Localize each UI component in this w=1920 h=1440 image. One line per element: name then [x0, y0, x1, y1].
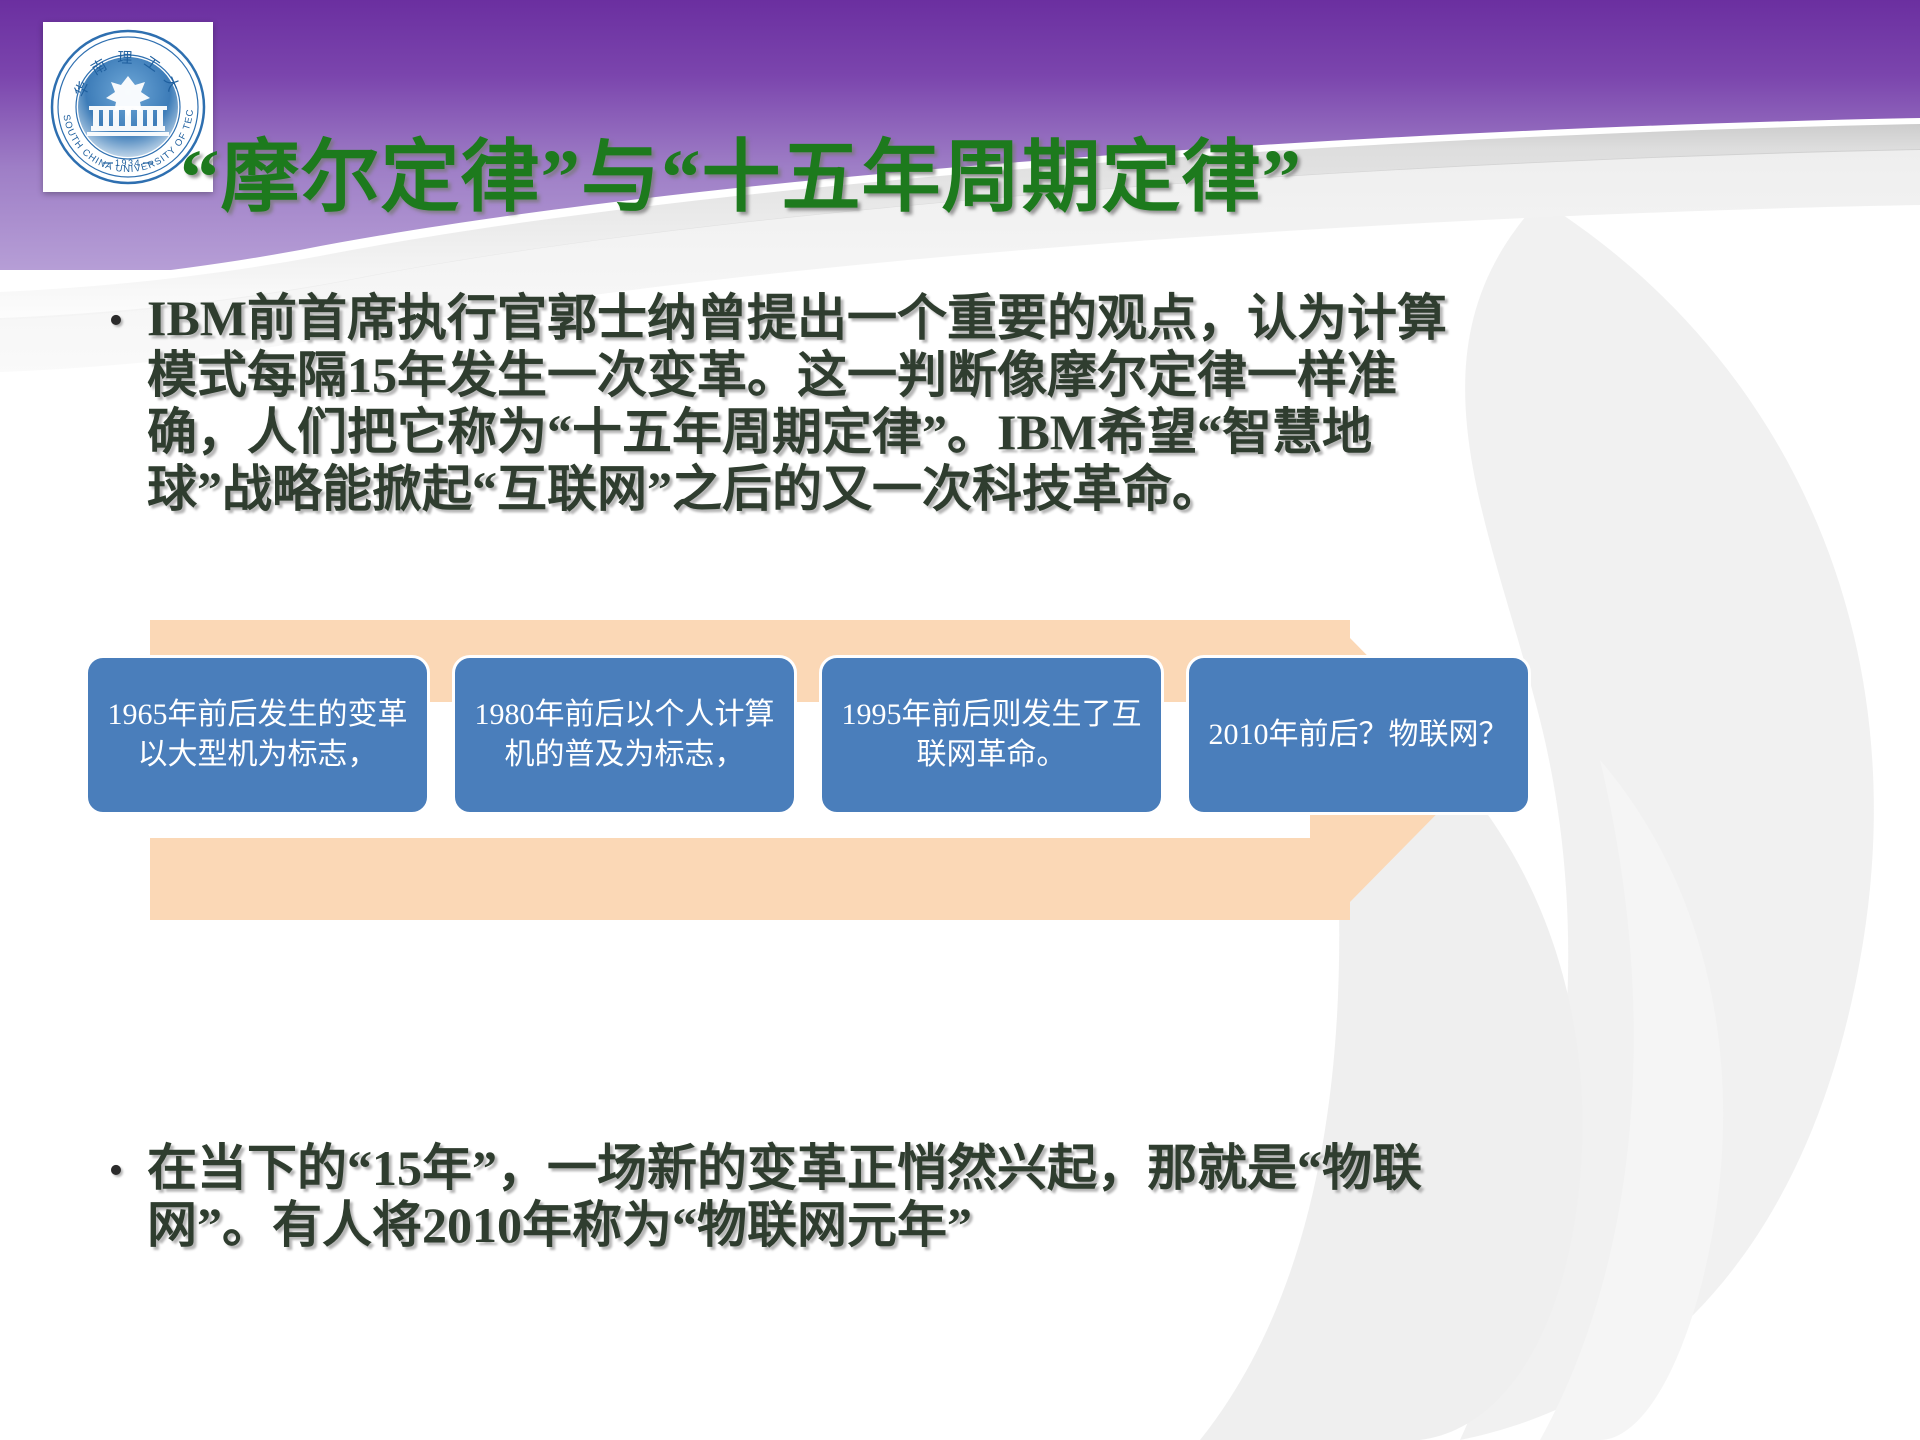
- process-step-2-label: 1980年前后以个人计算机的普及为标志，: [469, 695, 780, 775]
- process-step-1[interactable]: 1965年前后发生的变革以大型机为标志，: [85, 655, 430, 815]
- process-step-4-label: 2010年前后？物联网？: [1203, 715, 1514, 755]
- bullet-marker: •: [85, 1140, 147, 1192]
- svg-text:1934: 1934: [115, 158, 141, 168]
- process-step-4[interactable]: 2010年前后？物联网？: [1186, 655, 1531, 815]
- process-steps-row: 1965年前后发生的变革以大型机为标志， 1980年前后以个人计算机的普及为标志…: [85, 655, 1705, 815]
- process-arrow-graphic: 1965年前后发生的变革以大型机为标志， 1980年前后以个人计算机的普及为标志…: [150, 620, 1630, 920]
- process-step-2[interactable]: 1980年前后以个人计算机的普及为标志，: [452, 655, 797, 815]
- bullet-item-1: • IBM前首席执行官郭士纳曾提出一个重要的观点，认为计算模式每隔15年发生一次…: [85, 290, 1525, 518]
- bullet-marker: •: [85, 290, 147, 342]
- process-step-3[interactable]: 1995年前后则发生了互联网革命。: [819, 655, 1164, 815]
- slide-canvas: 华南理工大学 SOUTH CHINA UNIVERSITY OF TECHNOL…: [0, 0, 1920, 1440]
- process-step-3-label: 1995年前后则发生了互联网革命。: [836, 695, 1147, 775]
- process-step-1-label: 1965年前后发生的变革以大型机为标志，: [102, 695, 413, 775]
- slide-title: “摩尔定律”与“十五年周期定律”: [180, 112, 1880, 227]
- bullet-text-2: 在当下的“15年”，一场新的变革正悄然兴起，那就是“物联网”。有人将2010年称…: [147, 1140, 1527, 1254]
- bullet-text-1: IBM前首席执行官郭士纳曾提出一个重要的观点，认为计算模式每隔15年发生一次变革…: [147, 290, 1487, 518]
- bullet-item-2: • 在当下的“15年”，一场新的变革正悄然兴起，那就是“物联网”。有人将2010…: [85, 1140, 1565, 1254]
